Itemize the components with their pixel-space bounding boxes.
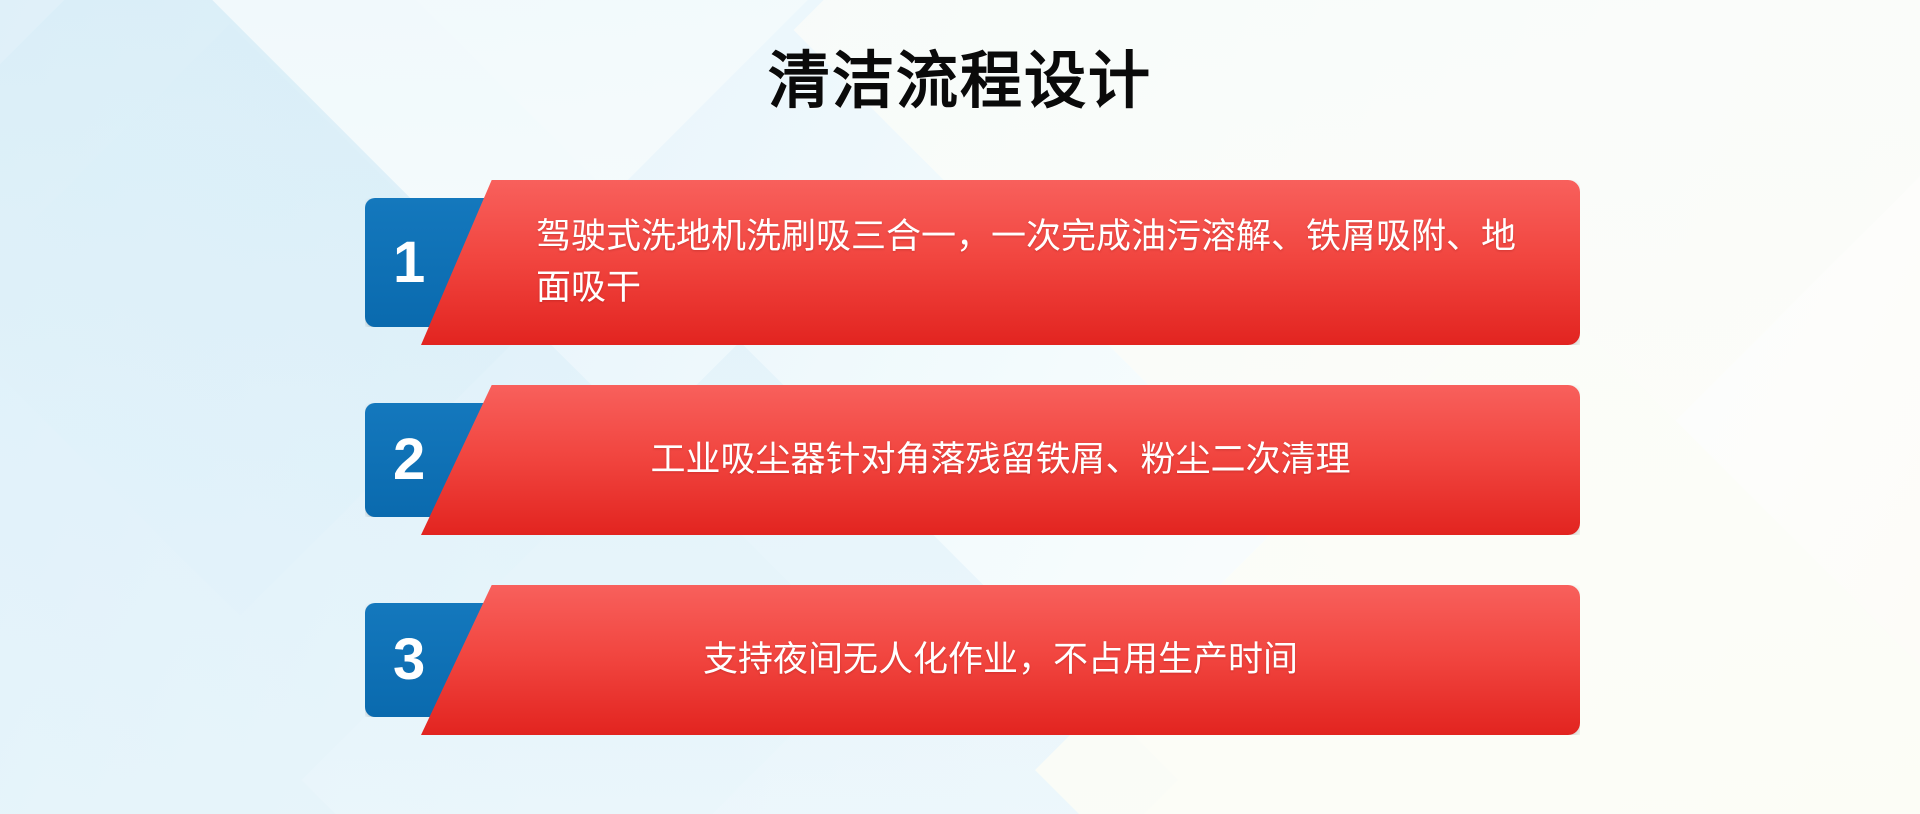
step-card-1[interactable]: 驾驶式洗地机洗刷吸三合一，一次完成油污溶解、铁屑吸附、地面吸干 xyxy=(421,180,1580,345)
list-item: 1 驾驶式洗地机洗刷吸三合一，一次完成油污溶解、铁屑吸附、地面吸干 xyxy=(365,180,1580,345)
list-item: 2 工业吸尘器针对角落残留铁屑、粉尘二次清理 xyxy=(365,385,1580,535)
step-text-3: 支持夜间无人化作业，不占用生产时间 xyxy=(521,635,1480,686)
step-text-2: 工业吸尘器针对角落残留铁屑、粉尘二次清理 xyxy=(521,435,1480,486)
step-card-2[interactable]: 工业吸尘器针对角落残留铁屑、粉尘二次清理 xyxy=(421,385,1580,535)
slide-canvas: 清洁流程设计 1 驾驶式洗地机洗刷吸三合一，一次完成油污溶解、铁屑吸附、地面吸干… xyxy=(0,0,1920,814)
step-card-2-inner: 工业吸尘器针对角落残留铁屑、粉尘二次清理 xyxy=(421,435,1580,486)
step-number-3: 3 xyxy=(393,631,425,689)
step-card-1-inner: 驾驶式洗地机洗刷吸三合一，一次完成油污溶解、铁屑吸附、地面吸干 xyxy=(421,212,1580,314)
step-text-1: 驾驶式洗地机洗刷吸三合一，一次完成油污溶解、铁屑吸附、地面吸干 xyxy=(536,212,1540,314)
steps-list: 1 驾驶式洗地机洗刷吸三合一，一次完成油污溶解、铁屑吸附、地面吸干 2 工业吸尘… xyxy=(0,0,1920,814)
step-card-3-inner: 支持夜间无人化作业，不占用生产时间 xyxy=(421,635,1580,686)
step-number-1: 1 xyxy=(393,234,425,292)
step-card-3[interactable]: 支持夜间无人化作业，不占用生产时间 xyxy=(421,585,1580,735)
step-number-2: 2 xyxy=(393,431,425,489)
list-item: 3 支持夜间无人化作业，不占用生产时间 xyxy=(365,585,1580,735)
